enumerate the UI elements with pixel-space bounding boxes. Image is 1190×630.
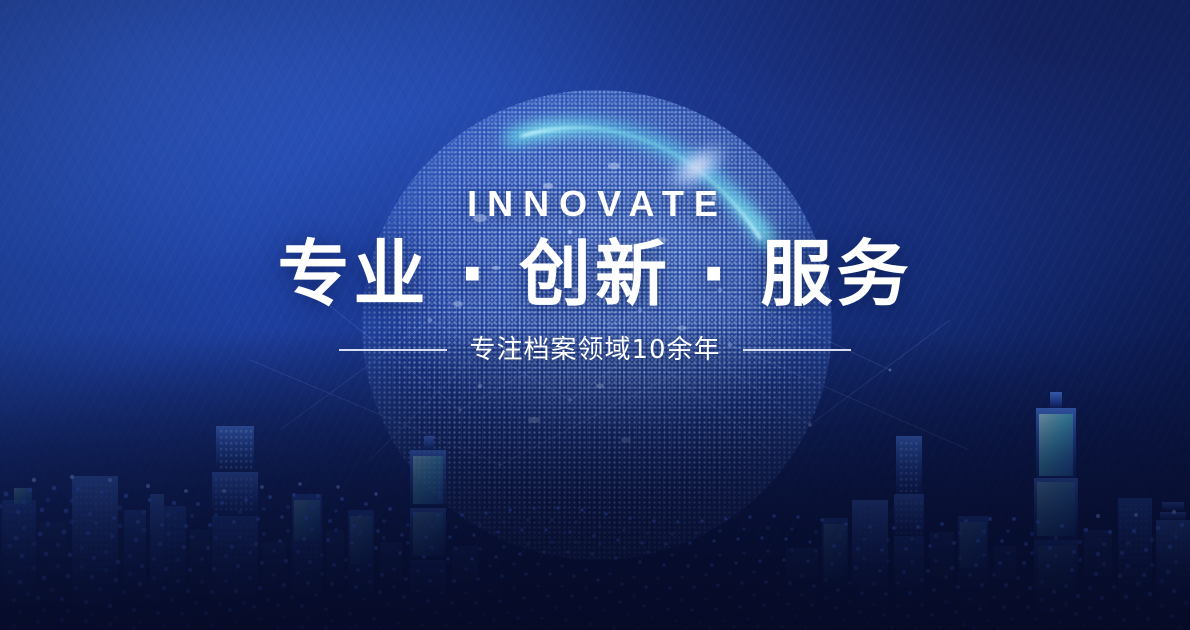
hero-banner: INNOVATE 专业 · 创新 · 服务 专注档案领域10余年 xyxy=(0,0,1190,630)
banner-subtitle-row: 专注档案领域10余年 xyxy=(339,337,850,363)
banner-content: INNOVATE 专业 · 创新 · 服务 专注档案领域10余年 xyxy=(0,0,1190,630)
banner-headline: 专业 · 创新 · 服务 xyxy=(278,234,913,315)
banner-subtitle: 专注档案领域10余年 xyxy=(469,337,720,363)
divider-line-right xyxy=(743,349,851,351)
divider-line-left xyxy=(339,349,447,351)
banner-kicker: INNOVATE xyxy=(467,186,728,222)
